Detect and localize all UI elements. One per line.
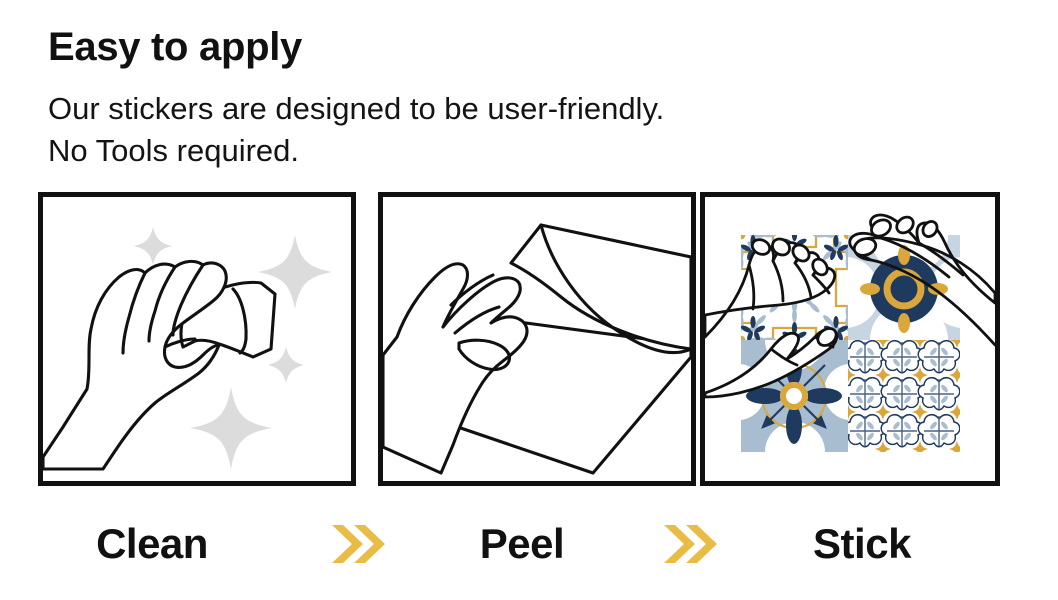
step-label-stick: Stick bbox=[748, 505, 976, 583]
infographic-root: Easy to apply Our stickers are designed … bbox=[0, 0, 1058, 600]
step-panel-stick bbox=[700, 192, 1000, 486]
step-label-clean: Clean bbox=[38, 505, 266, 583]
two-hands-pressing-tiles-illustration bbox=[705, 197, 995, 481]
step-caption-row: Clean Peel Stick bbox=[0, 505, 1058, 583]
step-panel-row bbox=[0, 192, 1058, 490]
tile-clover-grid bbox=[840, 332, 965, 457]
hand-peeling-sticker-illustration bbox=[383, 197, 691, 481]
page-subtitle: Our stickers are designed to be user-fri… bbox=[48, 88, 664, 172]
step-label-peel: Peel bbox=[408, 505, 636, 583]
step-panel-clean bbox=[38, 192, 356, 486]
page-title: Easy to apply bbox=[48, 26, 302, 68]
chevron-right-icon-2 bbox=[662, 523, 718, 565]
hand-wiping-with-cloth-illustration bbox=[43, 197, 351, 481]
chevron-right-icon-1 bbox=[330, 523, 386, 565]
step-panel-peel bbox=[378, 192, 696, 486]
